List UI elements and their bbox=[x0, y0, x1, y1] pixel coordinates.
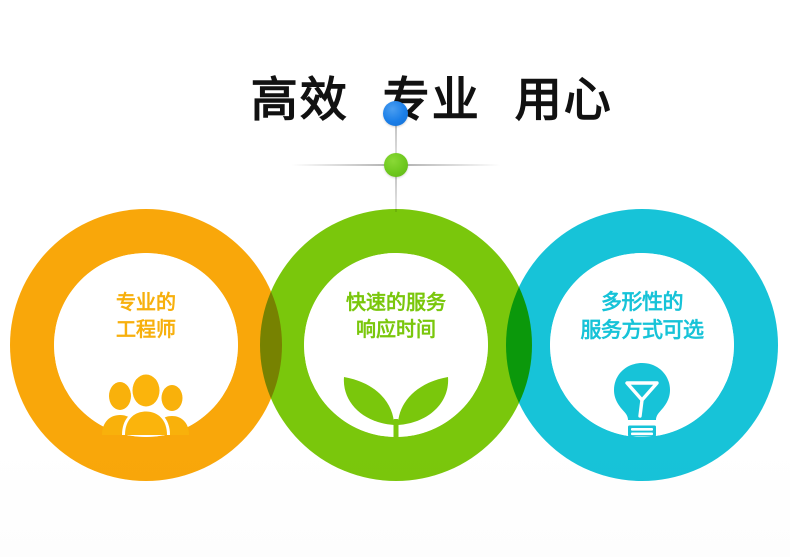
engineers-line-1: 专业的 bbox=[116, 290, 176, 314]
lightbulb-icon bbox=[603, 361, 681, 441]
service-line-2: 服务方式可选 bbox=[581, 318, 704, 342]
circle-label-service-modes: 多形性的服务方式可选 bbox=[581, 289, 704, 345]
circle-card-engineers[interactable]: 专业的工程师 bbox=[54, 253, 238, 437]
circle-label-engineers: 专业的工程师 bbox=[116, 289, 176, 342]
sprout-icon bbox=[336, 369, 456, 445]
circle-card-response-time[interactable]: 快速的服务响应时间 bbox=[304, 253, 488, 437]
circle-label-response-time: 快速的服务响应时间 bbox=[346, 289, 446, 342]
response-line-2: 响应时间 bbox=[356, 317, 436, 341]
response-line-1: 快速的服务 bbox=[346, 290, 446, 314]
people-group-icon bbox=[100, 373, 192, 439]
service-line-1: 多形性的 bbox=[601, 290, 683, 314]
poster-canvas: 高效专业用心 专业的工程师 bbox=[0, 0, 790, 557]
engineers-line-2: 工程师 bbox=[116, 317, 176, 341]
circle-card-service-modes[interactable]: 多形性的服务方式可选 bbox=[550, 253, 734, 437]
